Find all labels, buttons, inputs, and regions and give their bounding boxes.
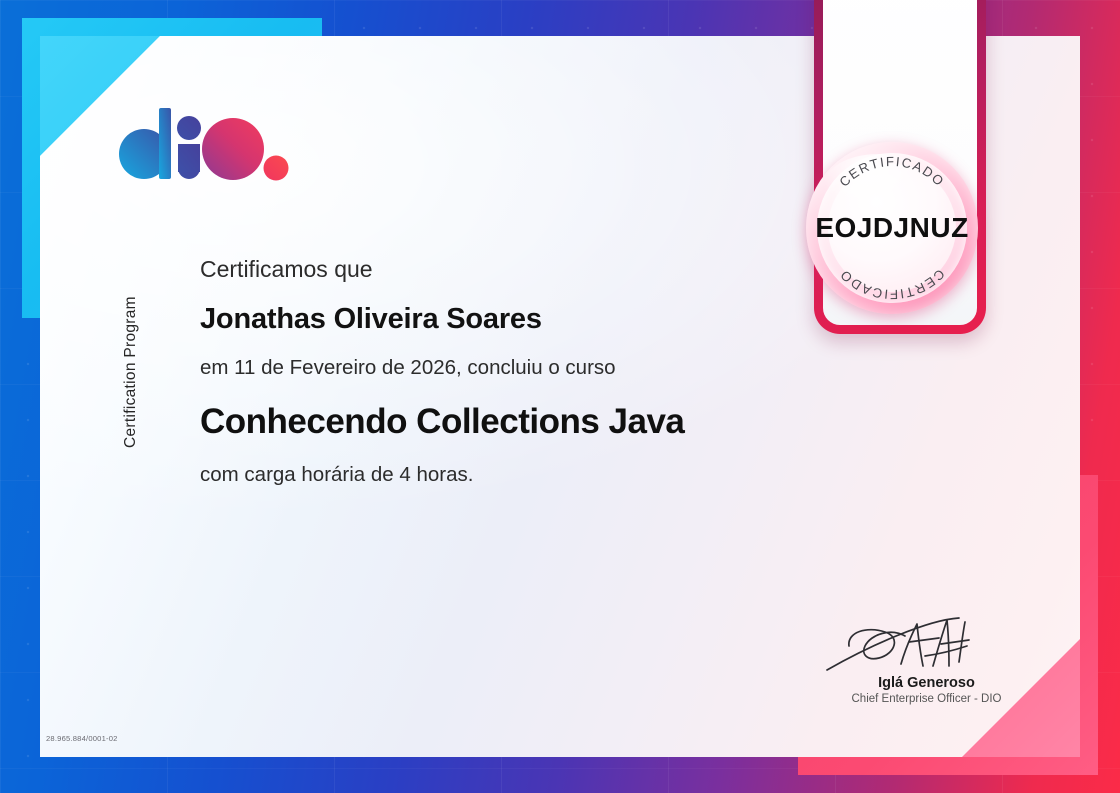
recipient-name: Jonathas Oliveira Soares (200, 305, 860, 334)
dio-logo (118, 104, 290, 182)
signature-block: Iglá Generoso Chief Enterprise Officer -… (809, 616, 1044, 707)
certificate-body: Certificamos que Jonathas Oliveira Soare… (200, 258, 860, 485)
signer-title: Chief Enterprise Officer - DIO (809, 693, 1044, 707)
seal-verification-code: EOJDJNUZ (806, 212, 978, 244)
handwritten-signature-icon (809, 616, 1044, 674)
cnpj-text: 28.965.884/0001-02 (46, 734, 118, 743)
certificate-canvas: Certification Program Certificamos que J… (0, 0, 1120, 793)
seal-arc-bottom-text: CERTIFICADO (836, 266, 947, 302)
signer-name: Iglá Generoso (809, 675, 1044, 692)
seal-arc-top-text: CERTIFICADO (836, 154, 947, 190)
course-title: Conhecendo Collections Java (200, 404, 860, 439)
certification-program-label: Certification Program (122, 296, 140, 448)
certificate-seal: CERTIFICADO CERTIFICADO EOJDJNUZ (806, 142, 978, 314)
intro-line: Certificamos que (200, 258, 860, 281)
workload-line: com carga horária de 4 horas. (200, 465, 860, 486)
completion-date-line: em 11 de Fevereiro de 2026, concluiu o c… (200, 358, 860, 379)
